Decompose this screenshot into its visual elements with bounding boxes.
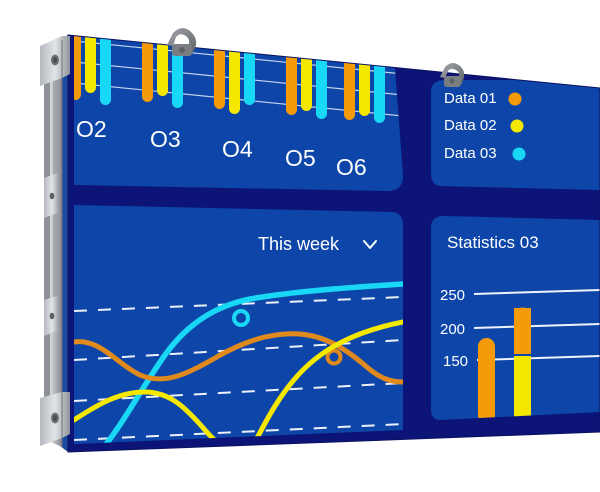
statistics-card[interactable]: Statistics 03 250 200 150: [431, 216, 600, 424]
line-marker-data-01[interactable]: [328, 351, 341, 364]
bar-group-o4: [214, 0, 255, 114]
statistics-title: Statistics 03: [447, 233, 539, 252]
legend-swatch-data-01: [509, 93, 522, 106]
panel-svg: O2 O3 O4 O5 O6 Data 01 Data 02 Data 03: [0, 0, 600, 492]
legend-card[interactable]: Data 01 Data 02 Data 03: [431, 80, 600, 190]
statistics-ytick-150: 150: [443, 353, 468, 370]
bar-axis-label-o6: O6: [336, 154, 367, 180]
this-week-card[interactable]: This week: [74, 205, 403, 455]
bar-axis-label-o2: O2: [76, 116, 107, 142]
this-week-title: This week: [258, 234, 340, 254]
legend-swatch-data-02: [511, 120, 524, 133]
legend-swatch-data-03: [513, 148, 526, 161]
monthly-bar-card[interactable]: O2 O3 O4 O5 O6: [70, 0, 403, 191]
statistics-bar-group-2: [514, 308, 531, 421]
line-marker-data-03[interactable]: [234, 311, 248, 325]
bar-group-o2: [70, 0, 111, 105]
bar-axis-label-o3: O3: [150, 126, 181, 152]
statistics-ytick-250: 250: [440, 287, 465, 304]
legend-label-data-02: Data 02: [444, 117, 497, 134]
bar-axis-label-o5: O5: [285, 145, 316, 171]
led-panel-scene: O2 O3 O4 O5 O6 Data 01 Data 02 Data 03: [0, 0, 600, 492]
legend-label-data-03: Data 03: [444, 145, 497, 162]
bar-group-o6: [344, 0, 385, 123]
bar-axis-label-o4: O4: [222, 136, 253, 162]
legend-label-data-01: Data 01: [444, 90, 497, 107]
bar-group-o5: [286, 0, 327, 119]
statistics-ytick-200: 200: [440, 321, 465, 338]
statistics-bar-group-1: [478, 338, 495, 424]
